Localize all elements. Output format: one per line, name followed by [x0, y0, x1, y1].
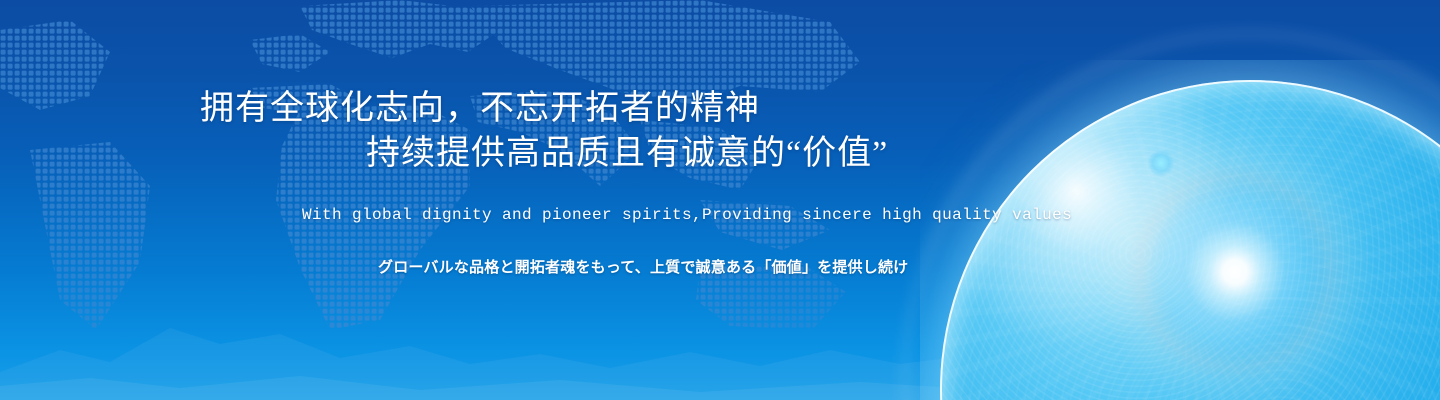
headline-line-2: 持续提供高品质且有诚意的“价值” — [366, 137, 888, 171]
hero-banner: 拥有全球化志向，不忘开拓者的精神 持续提供高品质且有诚意的“价值” With g… — [0, 0, 1440, 400]
subtitle-english: With global dignity and pioneer spirits,… — [302, 207, 1072, 223]
banner-copy: 拥有全球化志向，不忘开拓者的精神 持续提供高品质且有诚意的“价值” With g… — [0, 0, 1440, 400]
headline-line-1: 拥有全球化志向，不忘开拓者的精神 — [200, 92, 760, 126]
subtitle-japanese: グローバルな品格と開拓者魂をもって、上質で誠意ある「価値」を提供し続け — [378, 260, 908, 275]
